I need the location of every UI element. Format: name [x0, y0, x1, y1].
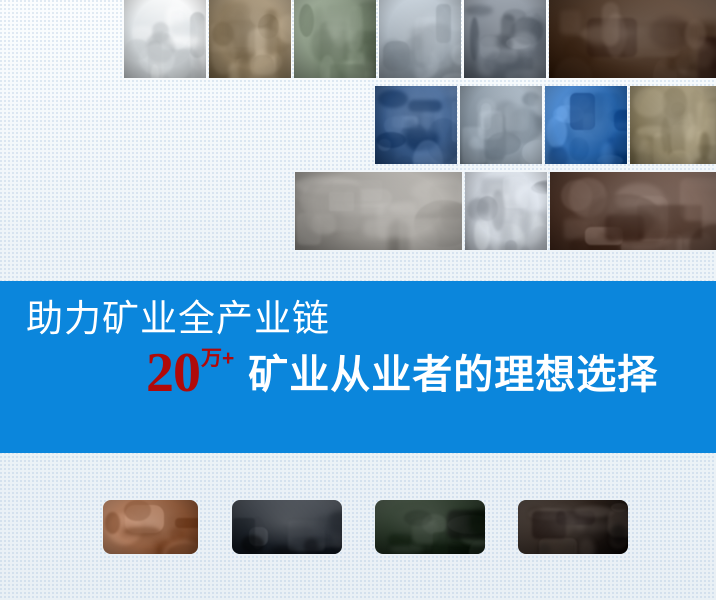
photo-lab-technician-instrument [124, 0, 206, 78]
photo-workshop-assembly-line [379, 0, 461, 78]
photo-mine-entrance-team [545, 86, 627, 164]
photo-helmet-crew-roadside [630, 86, 716, 164]
photo-chairman-office-portrait [549, 0, 716, 78]
photo-field-team-mountain [294, 0, 376, 78]
banner-tagline: 矿业从业者的理想选择 [248, 353, 658, 397]
photo-annual-conference-stage [209, 0, 291, 78]
member-count-unit: 万+ [201, 348, 234, 369]
photo-banner-ceremony-outdoor [460, 86, 542, 164]
banner-headline-primary: 助力矿业全产业链 [26, 297, 330, 341]
thumb-smiling-miner-portrait [232, 500, 342, 554]
headline-banner: 助力矿业全产业链 20 万+ 矿业从业者的理想选择 [0, 281, 716, 453]
photo-mine-workers-group [375, 86, 457, 164]
photo-technician-pouring-sample [465, 172, 547, 250]
photo-industry-conference-group [550, 172, 716, 250]
bottom-thumbnail-strip [0, 453, 716, 600]
photo-engineers-testing-sample [464, 0, 546, 78]
thumb-two-workers-red-helmets [375, 500, 485, 554]
photo-company-signage-wall [295, 172, 462, 250]
thumb-foundry-worker-furnace [518, 500, 628, 554]
banner-headline-secondary: 20 万+ 矿业从业者的理想选择 [146, 347, 658, 399]
member-count-number: 20 [146, 347, 200, 399]
thumb-geologist-sampling-outcrop [103, 500, 198, 554]
promo-banner-page: 助力矿业全产业链 20 万+ 矿业从业者的理想选择 [0, 0, 716, 600]
photo-collage [0, 0, 716, 258]
